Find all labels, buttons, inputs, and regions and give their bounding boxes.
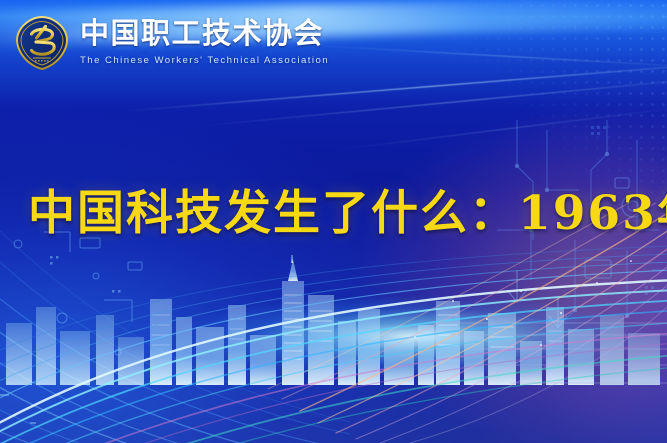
brand-text-block: 中国职工技术协会 The Chinese Workers' Technical …: [80, 18, 329, 65]
sparkle-dot: [414, 336, 416, 338]
sparkle-dot: [486, 318, 488, 320]
sparkle-dot: [452, 300, 454, 302]
page-title: 中国科技发生了什么：1963年: [28, 175, 652, 241]
organization-name-en: The Chinese Workers' Technical Associati…: [80, 55, 329, 66]
sparkle-dot: [630, 260, 632, 262]
banner-image: 中国职工技术协会 The Chinese Workers' Technical …: [0, 0, 667, 443]
sparkle-dot: [596, 282, 598, 284]
sparkle-dot: [560, 312, 562, 314]
organization-name-cn: 中国职工技术协会: [80, 18, 329, 49]
brand-header: 中国职工技术协会 The Chinese Workers' Technical …: [0, 0, 667, 86]
cwta-shield-logo: [14, 14, 70, 72]
sparkle-dot: [540, 344, 542, 346]
